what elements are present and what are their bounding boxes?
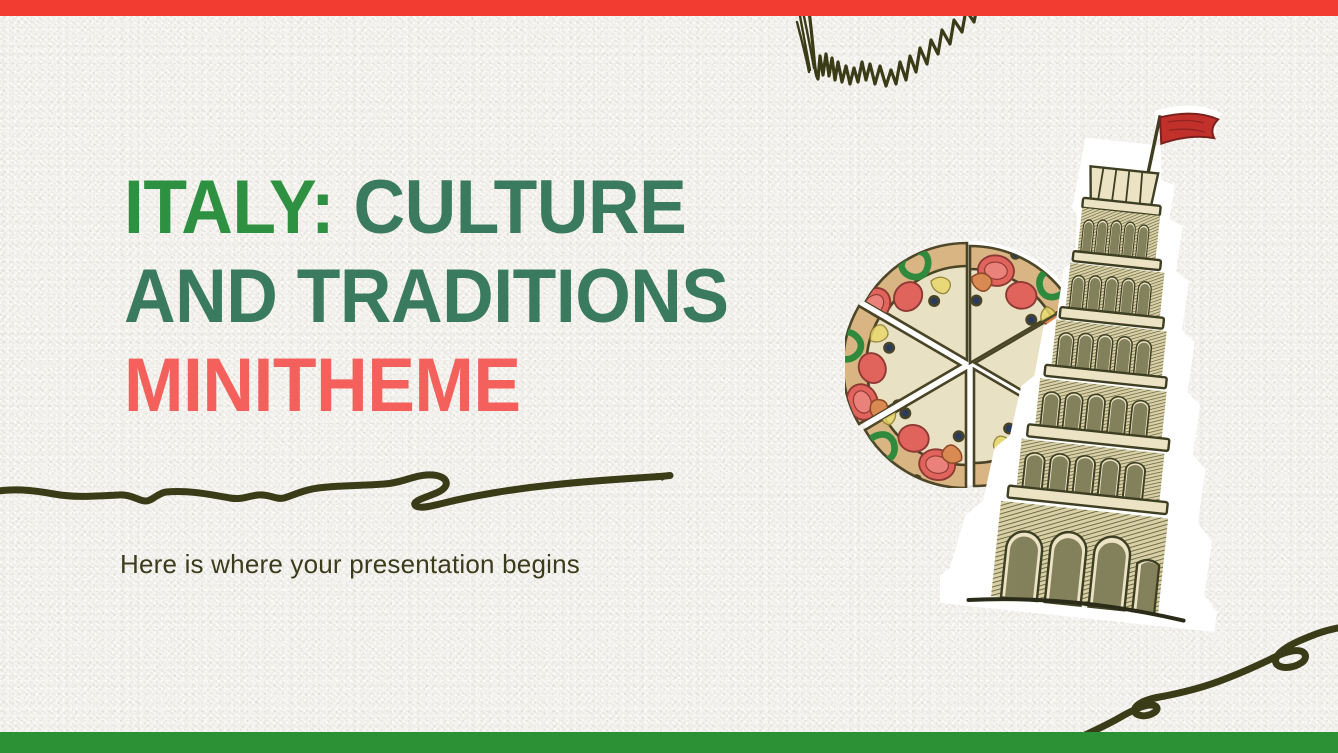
leaning-tower-of-pisa-illustration	[940, 82, 1250, 652]
title-line-2: AND TRADITIONS	[124, 252, 729, 341]
top-red-band	[0, 0, 1338, 16]
bottom-green-band	[0, 732, 1338, 753]
title-line-3: MINITHEME	[124, 341, 729, 430]
wavy-underline-scribble-icon	[0, 462, 692, 522]
title-slide: ITALY: CULTURE AND TRADITIONS MINITHEME …	[0, 0, 1338, 753]
title-culture: CULTURE	[334, 165, 686, 250]
title-block: ITALY: CULTURE AND TRADITIONS MINITHEME	[124, 163, 767, 430]
title-italy: ITALY:	[124, 165, 334, 250]
subtitle-text: Here is where your presentation begins	[120, 549, 580, 580]
title-line-1: ITALY: CULTURE	[124, 163, 729, 252]
